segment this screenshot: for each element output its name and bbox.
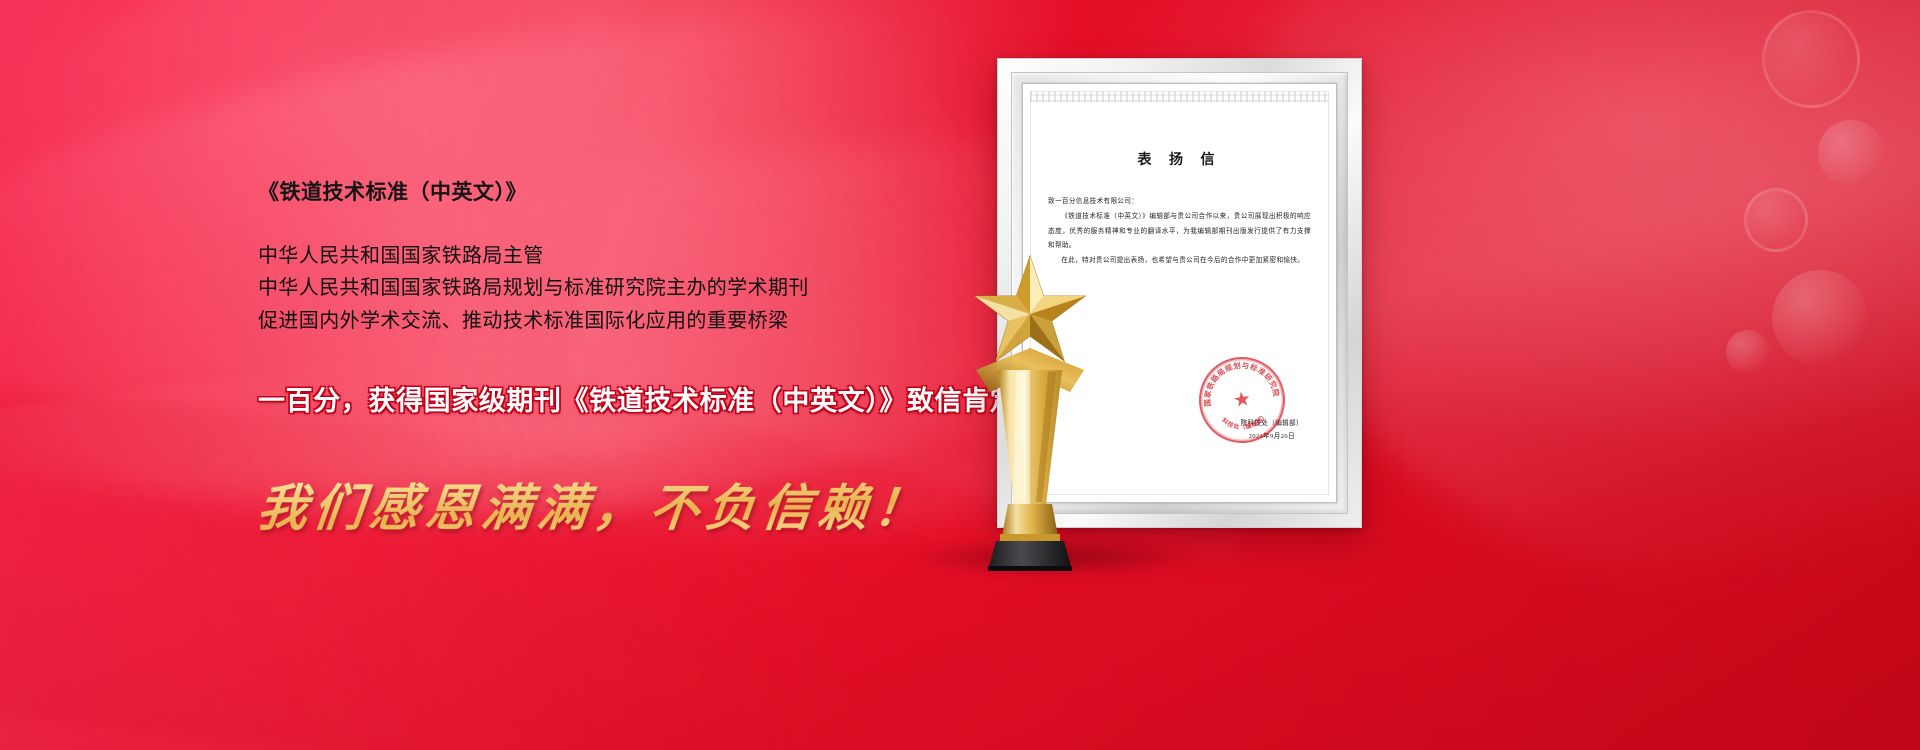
bokeh-circle-5 — [1726, 330, 1770, 374]
background-vignette — [0, 560, 1920, 750]
bokeh-circle-2 — [1818, 120, 1884, 186]
promo-banner: 《铁道技术标准（中英文）》 中华人民共和国国家铁路局主管 中华人民共和国国家铁路… — [0, 0, 1920, 750]
seal-star-icon: ★ — [1232, 389, 1253, 411]
bokeh-circle-4 — [1772, 270, 1868, 366]
certificate-date: 2024年9月26日 — [1241, 430, 1304, 443]
certificate-signature-block: 院科技处（编辑部） 2024年9月26日 — [1241, 417, 1304, 443]
certificate-paragraph: 《铁道技术标准（中英文）》编辑部与贵公司合作以来，贵公司展现出积极的响应态度，优… — [1048, 210, 1311, 254]
seal-arc-label: 国家铁路局规划与标准研究院 — [1198, 356, 1281, 407]
bokeh-ring-1 — [1762, 10, 1860, 108]
star-trophy-icon — [930, 252, 1130, 572]
bokeh-ring-3 — [1744, 188, 1808, 252]
certificate-salutation: 致一百分信息技术有限公司： — [1048, 195, 1311, 210]
certificate-signer: 院科技处（编辑部） — [1241, 417, 1304, 430]
certificate-title: 表 扬 信 — [1030, 149, 1329, 169]
